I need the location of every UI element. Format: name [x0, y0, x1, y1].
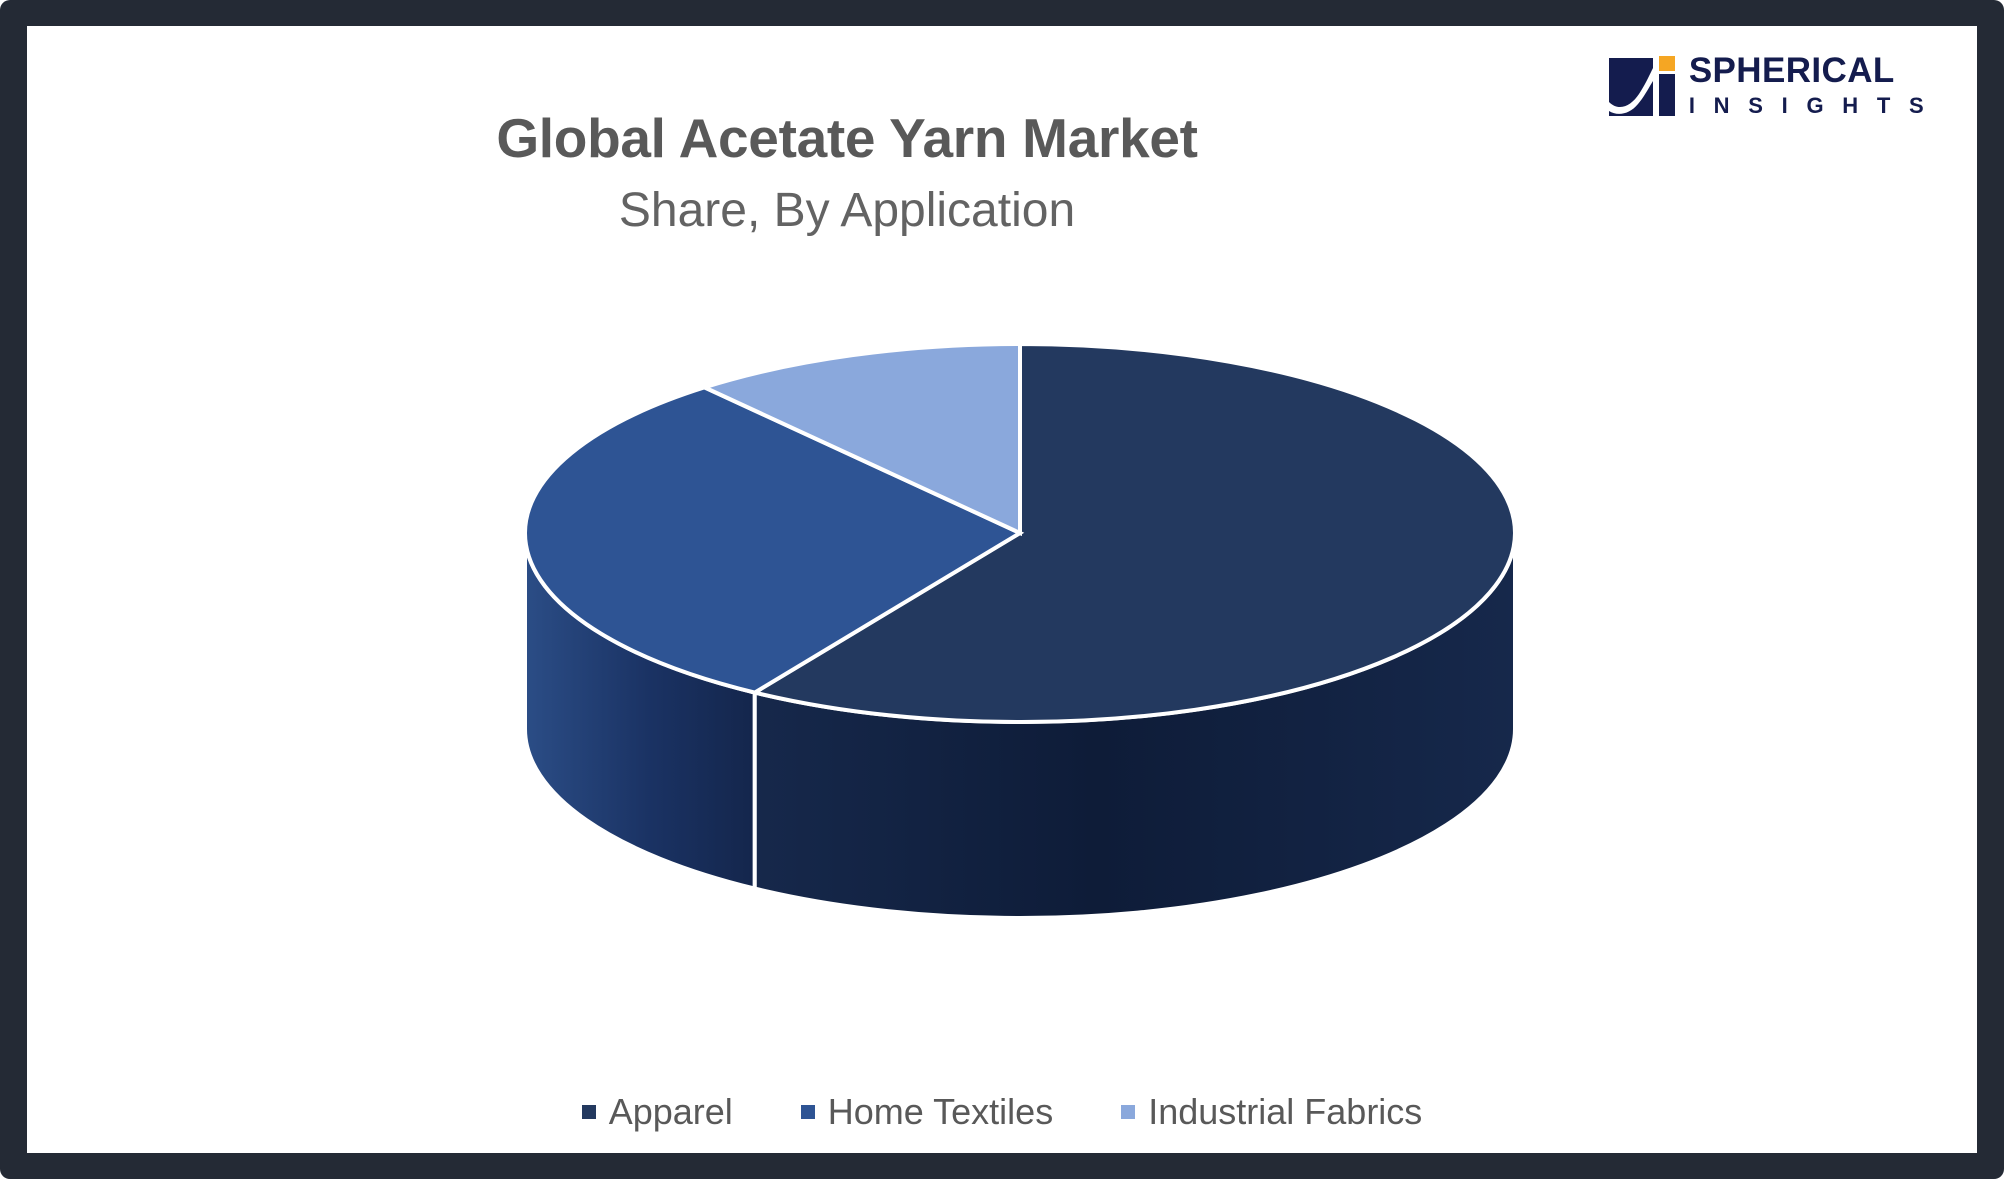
legend-item-industrial-fabrics[interactable]: Industrial Fabrics: [1121, 1094, 1422, 1130]
title-block: Global Acetate Yarn Market Share, By App…: [27, 108, 1667, 239]
legend-item-apparel[interactable]: Apparel: [582, 1094, 733, 1130]
pie-side-apparel: [755, 533, 1515, 918]
legend-swatch-icon: [582, 1105, 596, 1119]
page-subtitle: Share, By Application: [27, 182, 1667, 240]
pie-slice-apparel: [755, 344, 1515, 722]
legend-item-home-textiles[interactable]: Home Textiles: [801, 1094, 1053, 1130]
pie-slice-industrial-fabrics: [704, 344, 1020, 533]
spherical-insights-logo-mark-icon: [1609, 54, 1675, 116]
pie-side-home-textiles: [525, 533, 755, 889]
image-frame: Global Acetate Yarn Market Share, By App…: [0, 0, 2004, 1179]
legend-label: Home Textiles: [828, 1094, 1053, 1130]
legend-swatch-icon: [801, 1105, 815, 1119]
pie-slice-home-textiles: [525, 387, 1020, 692]
chart-legend: Apparel Home Textiles Industrial Fabrics: [27, 1094, 1977, 1130]
logo-text: SPHERICAL I N S I G H T S: [1689, 53, 1930, 117]
brand-logo: SPHERICAL I N S I G H T S: [1609, 53, 1930, 117]
logo-word-insights: I N S I G H T S: [1689, 95, 1930, 117]
chart-canvas: Global Acetate Yarn Market Share, By App…: [27, 26, 1977, 1153]
page-title: Global Acetate Yarn Market: [27, 108, 1667, 170]
logo-word-spherical: SPHERICAL: [1689, 53, 1930, 88]
legend-swatch-icon: [1121, 1105, 1135, 1119]
legend-label: Industrial Fabrics: [1148, 1094, 1422, 1130]
legend-label: Apparel: [609, 1094, 733, 1130]
